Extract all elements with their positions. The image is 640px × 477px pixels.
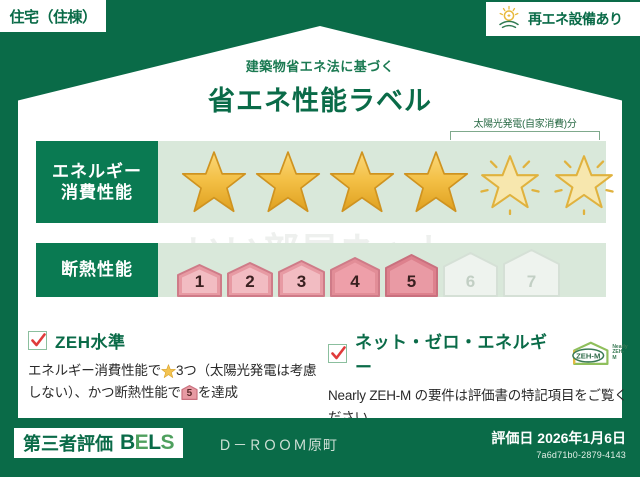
- insulation-level-3: 3: [277, 260, 326, 297]
- energy-performance-stars-area: 太陽光発電(自家消費)分: [158, 141, 606, 223]
- insulation-level-value: 3: [297, 272, 306, 297]
- inline-house-value: 5: [181, 386, 198, 402]
- bels-logo: BELS: [120, 431, 174, 455]
- inline-star-icon: [161, 363, 176, 378]
- star-filled: [328, 149, 396, 215]
- evaluation-date-label: 評価日: [491, 430, 533, 446]
- insulation-level-7: 7: [502, 249, 561, 297]
- insulation-level-value: 5: [407, 272, 416, 297]
- bels-certification-chip: 第三者評価 BELS: [14, 428, 183, 458]
- building-type-chip: 住宅（住棟）: [0, 0, 106, 32]
- solar-annotation-bracket: [450, 131, 600, 140]
- insulation-level-scale: 1 2 3: [158, 243, 606, 297]
- insulation-level-6: 6: [442, 252, 499, 297]
- evaluation-date: 評価日 2026年1月6日: [491, 428, 626, 448]
- energy-performance-row: エネルギー 消費性能 太陽光発電(自家消費)分: [36, 141, 606, 223]
- title-main: 省エネ性能ラベル: [0, 79, 640, 118]
- zeh-m-sub-line2: ZEH-M: [612, 349, 624, 361]
- net-zero-energy-block: ネット・ゼロ・エネルギー ZEH-M Nearly ZEH-M Nearly Z…: [328, 328, 628, 429]
- footer-bar: 第三者評価 BELS Ｄ－ＲＯＯＭ原町 評価日 2026年1月6日 7a6d71…: [0, 418, 640, 477]
- star-solar: [476, 149, 544, 215]
- evaluation-info: 評価日 2026年1月6日 7a6d71b0-2879-4143: [491, 428, 626, 460]
- insulation-levels-area: 1 2 3: [158, 243, 606, 297]
- evaluation-date-value: 2026年1月6日: [537, 430, 626, 446]
- star-rating: [158, 141, 606, 223]
- insulation-performance-row: 断熱性能 1 2: [36, 243, 606, 297]
- evaluation-id: 7a6d71b0-2879-4143: [491, 450, 626, 460]
- zeh-standard-heading-row: ZEH水準: [28, 328, 318, 353]
- building-type-label: 住宅（住棟）: [9, 6, 96, 27]
- title-subtitle: 建築物省エネ法に基づく: [0, 56, 640, 75]
- title-block: 建築物省エネ法に基づく 省エネ性能ラベル: [0, 56, 640, 118]
- insulation-level-value: 7: [527, 272, 536, 297]
- insulation-level-value: 4: [350, 272, 359, 297]
- star-filled: [180, 149, 248, 215]
- solar-annotation: 太陽光発電(自家消費)分: [450, 115, 600, 140]
- svg-text:ZEH-M: ZEH-M: [576, 351, 600, 360]
- insulation-level-4: 4: [329, 257, 381, 297]
- zeh-standard-heading: ZEH水準: [55, 328, 126, 353]
- net-zero-heading-row: ネット・ゼロ・エネルギー ZEH-M Nearly ZEH-M: [328, 328, 628, 378]
- checkbox-checked-icon: [28, 331, 47, 350]
- insulation-level-5: 5: [384, 254, 439, 297]
- energy-label-line1: エネルギー: [52, 161, 142, 182]
- energy-performance-label-cell: エネルギー 消費性能: [36, 141, 158, 223]
- renewable-equipment-badge: 再エネ設備あり: [486, 2, 640, 36]
- star-filled: [254, 149, 322, 215]
- zeh-standard-body: エネルギー消費性能で 3つ（太陽光発電は考慮しない）、かつ断熱性能で 5 を達成: [28, 360, 318, 404]
- energy-label-line2: 消費性能: [61, 182, 133, 203]
- renewable-badge-label: 再エネ設備あり: [528, 9, 623, 29]
- insulation-label: 断熱性能: [61, 259, 133, 280]
- zeh-body-pre: エネルギー消費性能で: [28, 363, 161, 378]
- net-zero-heading: ネット・ゼロ・エネルギー: [355, 328, 557, 378]
- sun-renewable-icon: [496, 4, 522, 35]
- zeh-body-post: を達成: [198, 385, 238, 400]
- zeh-m-logo: ZEH-M Nearly ZEH-M: [571, 340, 628, 366]
- insulation-level-value: 2: [245, 272, 254, 297]
- third-party-eval-label: 第三者評価: [23, 430, 113, 456]
- zeh-m-logo-sub: Nearly ZEH-M: [612, 345, 628, 367]
- checkbox-checked-icon: [328, 344, 347, 363]
- star-filled: [402, 149, 470, 215]
- project-name: Ｄ－ＲＯＯＭ原町: [218, 435, 338, 455]
- inline-house-badge: 5: [181, 385, 198, 400]
- insulation-level-1: 1: [176, 264, 223, 297]
- insulation-performance-label-cell: 断熱性能: [36, 243, 158, 297]
- insulation-level-value: 6: [466, 272, 475, 297]
- insulation-level-value: 1: [195, 272, 204, 297]
- star-solar: [550, 149, 618, 215]
- zeh-standard-block: ZEH水準 エネルギー消費性能で 3つ（太陽光発電は考慮しない）、かつ断熱性能で…: [28, 328, 318, 404]
- energy-performance-label: いい部屋ネット 住宅（住棟） 再エネ設備あり 建築物省エ: [0, 0, 640, 477]
- insulation-level-2: 2: [226, 262, 274, 297]
